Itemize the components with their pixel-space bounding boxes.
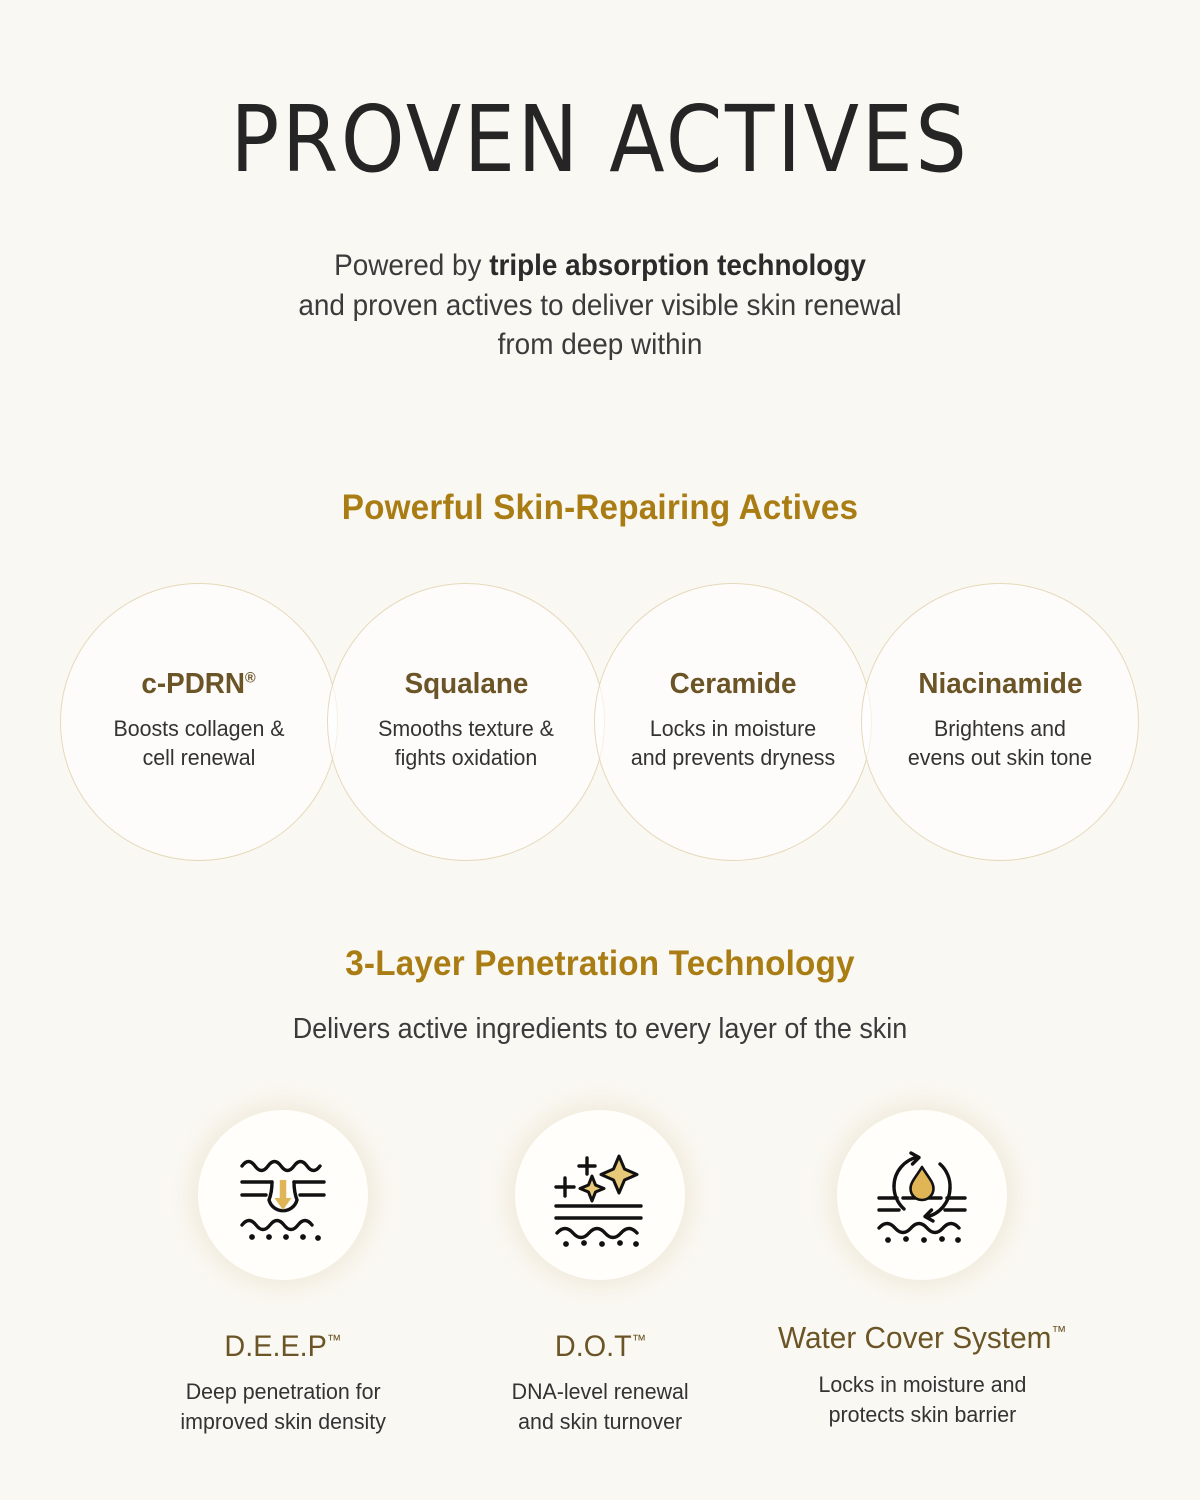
trademark-mark-icon: ™ (631, 1332, 645, 1349)
tech-item-deep: D.E.E.P™ Deep penetration for improved s… (118, 1110, 448, 1437)
skin-dots (563, 1240, 639, 1247)
skin-dots (885, 1236, 961, 1243)
tech-description-line-1: Deep penetration for (180, 1377, 386, 1407)
page-title: PROVEN ACTIVES (72, 94, 1128, 186)
infographic-page: PROVEN ACTIVES Powered by triple absorpt… (0, 0, 1200, 1500)
active-name-text: Niacinamide (918, 668, 1082, 700)
tech-name: Water Cover System™ (778, 1320, 1066, 1356)
active-item-niacinamide: Niacinamide Brightens and evens out skin… (861, 583, 1139, 861)
tech-name: D.O.T™ (554, 1330, 645, 1364)
hero-subtitle-emphasis: triple absorption technology (489, 249, 866, 282)
sparkle-large-icon (601, 1156, 637, 1193)
active-name: Ceramide (670, 668, 797, 701)
active-description: Smooths texture & fights oxidation (328, 714, 604, 773)
tech-item-water-cover-system: Water Cover System™ Locks in moisture an… (757, 1110, 1087, 1430)
tech-description-line-1: DNA-level renewal (511, 1377, 688, 1407)
tech-icon-bubble (515, 1110, 685, 1280)
active-description-line-1: Boosts collagen & (61, 714, 337, 743)
penetration-section-subheading: Delivers active ingredients to every lay… (42, 1013, 1158, 1046)
hero-subtitle-line-2: and proven actives to deliver visible sk… (42, 286, 1158, 326)
registered-mark-icon: ® (245, 669, 256, 686)
active-item-squalane: Squalane Smooths texture & fights oxidat… (327, 583, 605, 861)
tech-item-dot: D.O.T™ DNA-level renewal and skin turnov… (435, 1110, 765, 1437)
tech-description: Deep penetration for improved skin densi… (180, 1377, 386, 1437)
hero-subtitle: Powered by triple absorption technology … (42, 246, 1158, 365)
active-description-line-1: Locks in moisture (595, 714, 871, 743)
sparkle-small-icon (580, 1176, 604, 1201)
tech-description: DNA-level renewal and skin turnover (511, 1377, 688, 1437)
active-name: Niacinamide (918, 668, 1082, 701)
active-description-line-2: fights oxidation (328, 743, 604, 772)
actives-section-heading: Powerful Skin-Repairing Actives (30, 488, 1170, 528)
skin-pore-absorption-icon (228, 1140, 338, 1250)
active-description-line-2: cell renewal (61, 743, 337, 772)
skin-dots (249, 1234, 321, 1241)
active-description: Locks in moisture and prevents dryness (595, 714, 871, 773)
active-name-text: c-PDRN (142, 668, 246, 700)
active-name: Squalane (404, 668, 528, 701)
hero-subtitle-line-1: Powered by triple absorption technology (42, 246, 1158, 286)
tech-name-text: D.E.E.P (225, 1330, 327, 1363)
tech-description: Locks in moisture and protects skin barr… (818, 1370, 1026, 1430)
active-item-ceramide: Ceramide Locks in moisture and prevents … (594, 583, 872, 861)
tech-description-line-1: Locks in moisture and (818, 1370, 1026, 1400)
tech-icon-bubble (837, 1110, 1007, 1280)
active-description-line-2: evens out skin tone (862, 743, 1138, 772)
hero-subtitle-line-1-prefix: Powered by (334, 249, 489, 282)
trademark-mark-icon: ™ (1051, 1324, 1066, 1341)
tech-name-text: D.O.T (554, 1330, 631, 1363)
hero-subtitle-line-3: from deep within (42, 325, 1158, 365)
actives-circle-group: c-PDRN® Boosts collagen & cell renewal S… (60, 583, 1145, 868)
active-item-c-pdrn: c-PDRN® Boosts collagen & cell renewal (60, 583, 338, 861)
tech-description-line-2: protects skin barrier (818, 1400, 1026, 1430)
penetration-tech-group: D.E.E.P™ Deep penetration for improved s… (0, 1110, 1200, 1460)
active-name-text: Squalane (404, 668, 528, 700)
down-arrow-icon (275, 1180, 292, 1210)
penetration-section-heading: 3-Layer Penetration Technology (30, 944, 1170, 984)
tech-description-line-2: and skin turnover (511, 1407, 688, 1437)
active-description-line-1: Brightens and (862, 714, 1138, 743)
active-name-text: Ceramide (670, 668, 797, 700)
tech-description-line-2: improved skin density (180, 1407, 386, 1437)
active-description-line-1: Smooths texture & (328, 714, 604, 743)
tech-name: D.E.E.P™ (225, 1330, 342, 1364)
tech-name-text: Water Cover System (778, 1320, 1051, 1355)
skin-sparkle-renewal-icon (545, 1140, 655, 1250)
trademark-mark-icon: ™ (327, 1332, 341, 1349)
water-droplet-cycle-icon (867, 1140, 977, 1250)
active-description: Brightens and evens out skin tone (862, 714, 1138, 773)
water-droplet-icon (911, 1167, 934, 1200)
active-description-line-2: and prevents dryness (595, 743, 871, 772)
active-description: Boosts collagen & cell renewal (61, 714, 337, 773)
tech-icon-bubble (198, 1110, 368, 1280)
active-name: c-PDRN® (142, 668, 256, 701)
